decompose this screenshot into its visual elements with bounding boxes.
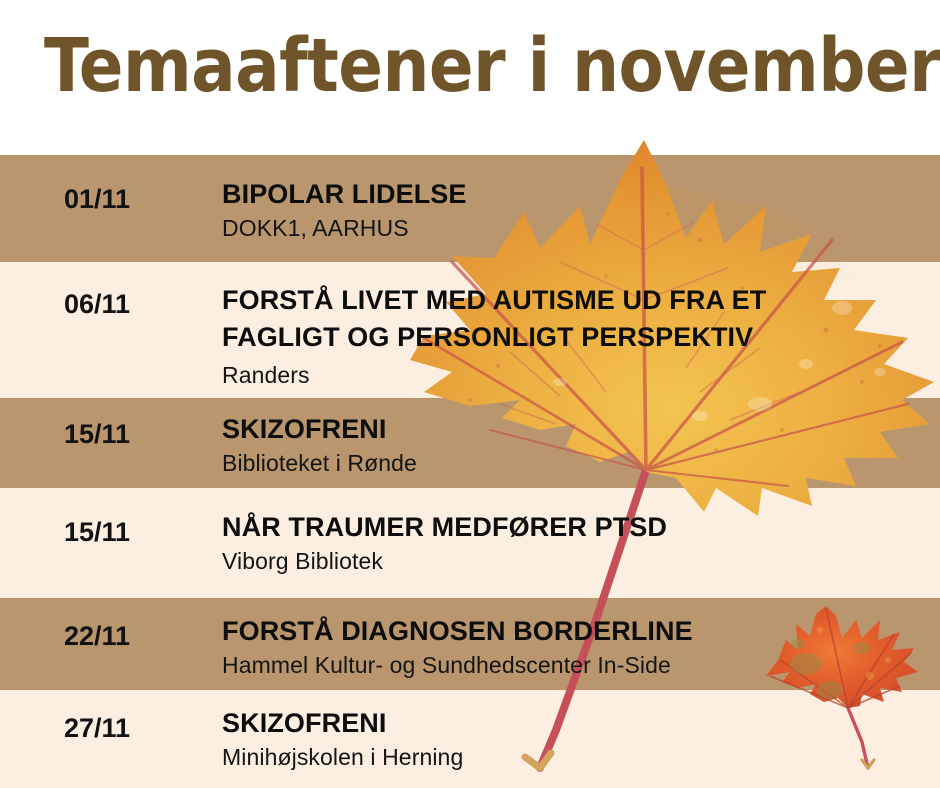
band-row-2: [0, 262, 940, 398]
band-row-6: [0, 690, 940, 788]
band-row-4: [0, 488, 940, 598]
band-row-3: [0, 398, 940, 488]
band-row-5: [0, 598, 940, 690]
poster-canvas: Temaaftener i november 01/11 BIPOLAR LID…: [0, 0, 940, 788]
schedule-bands: [0, 0, 940, 788]
band-row-1: [0, 155, 940, 262]
